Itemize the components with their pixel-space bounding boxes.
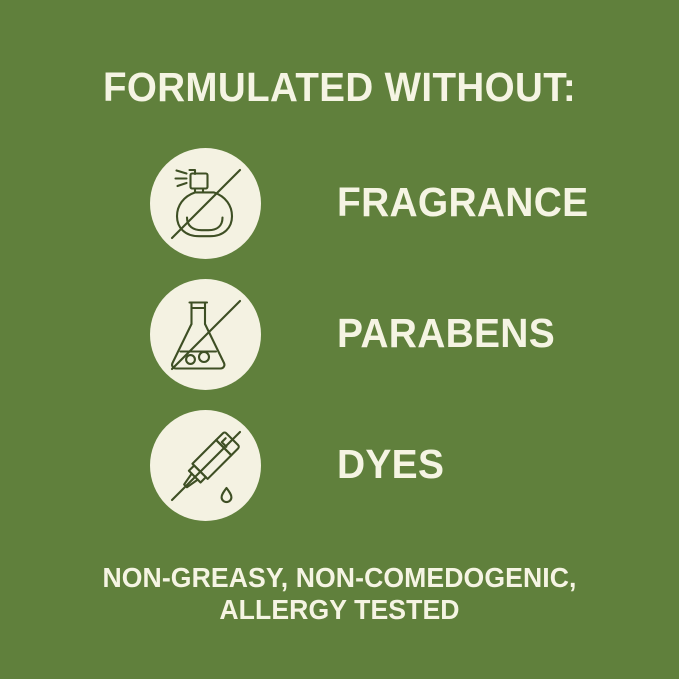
claim-label-text: PARABENS (337, 310, 555, 357)
page-title: FORMULATED WITHOUT: (20, 63, 658, 111)
no-dropper-dye-icon (150, 410, 261, 521)
claim-label: FRAGRANCE (337, 147, 602, 258)
claim-label: PARABENS (337, 278, 566, 389)
list-item: PARABENS (0, 278, 679, 409)
no-chemical-flask-icon (150, 279, 261, 390)
claim-label: DYES (337, 409, 450, 520)
footer-claims: NON-GREASY, NON-COMEDOGENIC, ALLERGY TES… (0, 562, 679, 626)
formulated-without-panel: FORMULATED WITHOUT: (0, 0, 679, 679)
list-item: FRAGRANCE (0, 147, 679, 278)
no-fragrance-bottle-icon (150, 148, 261, 259)
list-item: DYES (0, 409, 679, 540)
claims-list: FRAGRANCE (0, 147, 679, 540)
footer-line-1: NON-GREASY, NON-COMEDOGENIC, (17, 562, 662, 594)
claim-label-text: DYES (337, 441, 444, 488)
claim-label-text: FRAGRANCE (337, 179, 588, 226)
footer-line-2: ALLERGY TESTED (17, 594, 662, 626)
